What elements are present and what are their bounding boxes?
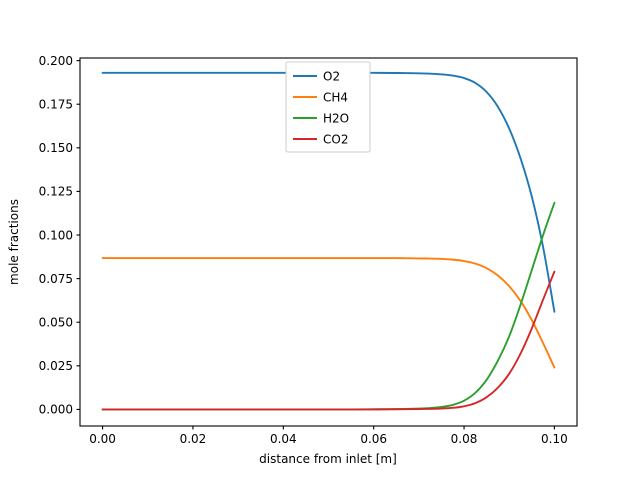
figure-canvas: 0.000.020.040.060.080.10 0.0000.0250.050… bbox=[0, 0, 640, 480]
x-axis-label: distance from inlet [m] bbox=[259, 452, 397, 466]
y-tick-label: 0.150 bbox=[39, 141, 73, 155]
legend-label-o2: O2 bbox=[323, 69, 340, 83]
x-tick-label: 0.02 bbox=[180, 432, 207, 446]
y-tick-label: 0.125 bbox=[39, 185, 73, 199]
chart-legend: O2CH4H2OCO2 bbox=[286, 62, 370, 152]
y-tick-label: 0.050 bbox=[39, 316, 73, 330]
series-line-h2o bbox=[103, 203, 555, 410]
y-tick-label: 0.000 bbox=[39, 403, 73, 417]
series-line-co2 bbox=[103, 272, 555, 410]
legend-label-ch4: CH4 bbox=[323, 90, 348, 104]
y-tick-label: 0.175 bbox=[39, 98, 73, 112]
y-tick-label: 0.025 bbox=[39, 359, 73, 373]
chart-plot: 0.000.020.040.060.080.10 0.0000.0250.050… bbox=[0, 0, 640, 480]
y-axis-label: mole fractions bbox=[7, 199, 21, 285]
legend-label-h2o: H2O bbox=[323, 111, 349, 125]
x-tick-label: 0.10 bbox=[541, 432, 568, 446]
y-tick-label: 0.100 bbox=[39, 228, 73, 242]
y-axis-ticks: 0.0000.0250.0500.0750.1000.1250.1500.175… bbox=[39, 54, 80, 417]
y-tick-label: 0.075 bbox=[39, 272, 73, 286]
x-tick-label: 0.04 bbox=[270, 432, 297, 446]
x-tick-label: 0.06 bbox=[360, 432, 387, 446]
y-tick-label: 0.200 bbox=[39, 54, 73, 68]
x-axis-ticks: 0.000.020.040.060.080.10 bbox=[89, 426, 568, 446]
x-tick-label: 0.08 bbox=[451, 432, 478, 446]
legend-label-co2: CO2 bbox=[323, 132, 348, 146]
x-tick-label: 0.00 bbox=[89, 432, 116, 446]
series-line-ch4 bbox=[103, 258, 555, 368]
